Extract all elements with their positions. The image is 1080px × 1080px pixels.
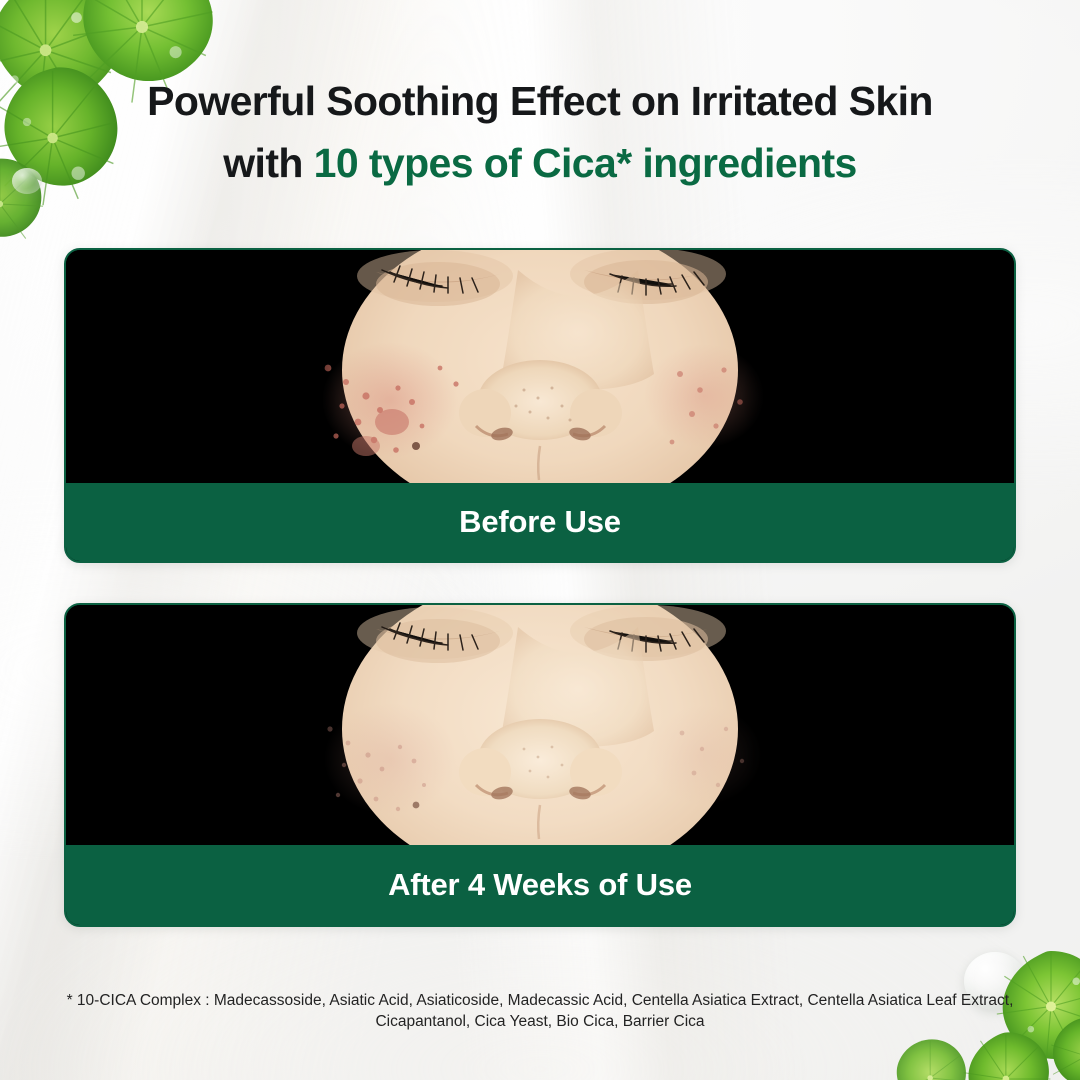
face-image-after xyxy=(280,605,800,845)
before-label-bar: Before Use xyxy=(66,483,1014,561)
headline-line-1: Powerful Soothing Effect on Irritated Sk… xyxy=(0,70,1080,132)
headline-line-2-prefix: with xyxy=(223,140,313,186)
promo-image-root: Powerful Soothing Effect on Irritated Sk… xyxy=(0,0,1080,1080)
before-comparison-card: Before Use xyxy=(64,248,1016,563)
after-comparison-card: After 4 Weeks of Use xyxy=(64,603,1016,927)
centella-leaf-icon xyxy=(884,1032,980,1080)
headline-line-2-accent: 10 types of Cica* ingredients xyxy=(314,140,857,186)
face-image-before xyxy=(280,250,800,483)
after-label-text: After 4 Weeks of Use xyxy=(388,867,692,903)
footnote-line-2: Cicapantanol, Cica Yeast, Bio Cica, Barr… xyxy=(35,1011,1045,1032)
after-photo xyxy=(66,605,1014,845)
before-label-text: Before Use xyxy=(459,504,621,540)
headline-line-2: with 10 types of Cica* ingredients xyxy=(0,132,1080,194)
headline: Powerful Soothing Effect on Irritated Sk… xyxy=(0,70,1080,194)
footnote: * 10-CICA Complex : Madecassoside, Asiat… xyxy=(35,990,1045,1032)
footnote-line-1: * 10-CICA Complex : Madecassoside, Asiat… xyxy=(35,990,1045,1011)
centella-leaf-icon xyxy=(1040,1010,1080,1080)
after-label-bar: After 4 Weeks of Use xyxy=(66,845,1014,925)
before-photo xyxy=(66,250,1014,483)
